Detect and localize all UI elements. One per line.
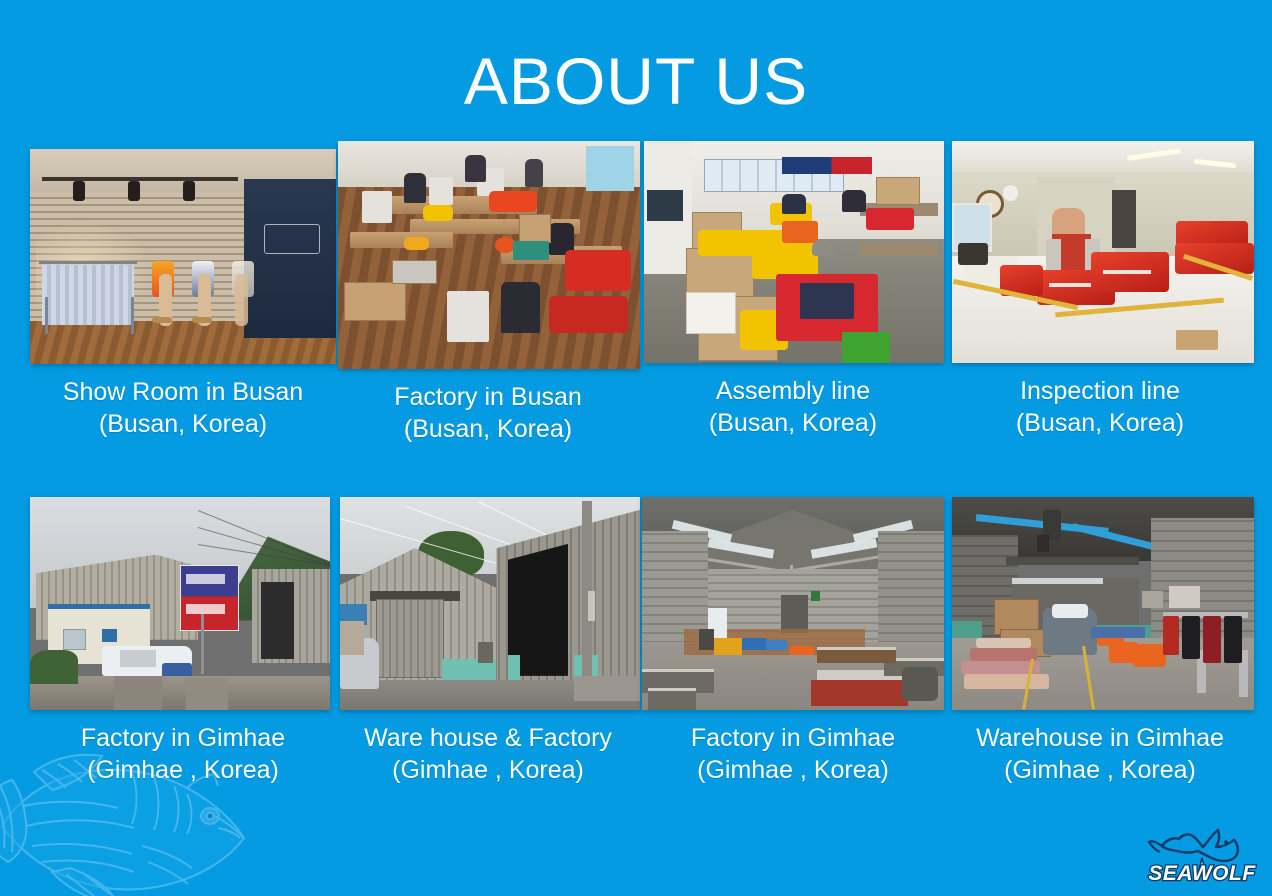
photo-factory-gimhae-exterior: [30, 497, 330, 710]
gallery-row-2: Factory in Gimhae (Gimhae , Korea): [30, 497, 1258, 786]
gallery-row-1: Show Room in Busan (Busan, Korea): [30, 141, 1258, 445]
caption-line-1: Inspection line: [1020, 377, 1180, 405]
caption-line-1: Warehouse in Gimhae: [976, 724, 1224, 752]
gallery-item-factory-gimhae-interior[interactable]: Factory in Gimhae (Gimhae , Korea): [640, 497, 946, 786]
gallery-item-warehouse-gimhae[interactable]: Warehouse in Gimhae (Gimhae , Korea): [946, 497, 1254, 786]
gallery-caption: Factory in Busan (Busan, Korea): [336, 381, 640, 445]
caption-line-1: Ware house & Factory: [364, 724, 612, 752]
gallery-caption: Assembly line (Busan, Korea): [640, 375, 946, 439]
gallery-caption: Warehouse in Gimhae (Gimhae , Korea): [946, 722, 1254, 786]
wolf-tail-icon: [1149, 841, 1162, 852]
gallery-item-factory-busan[interactable]: Factory in Busan (Busan, Korea): [336, 141, 640, 445]
caption-line-1: Assembly line: [716, 377, 870, 405]
caption-line-1: Show Room in Busan: [63, 378, 303, 406]
caption-line-1: Factory in Busan: [394, 383, 582, 411]
caption-line-2: (Busan, Korea): [946, 407, 1254, 439]
gallery-item-warehouse-and-factory[interactable]: Ware house & Factory (Gimhae , Korea): [336, 497, 640, 786]
caption-line-2: (Busan, Korea): [336, 413, 640, 445]
gallery-caption: Factory in Gimhae (Gimhae , Korea): [640, 722, 946, 786]
photo-assembly-line: [644, 141, 944, 363]
slide-canvas: ABOUT US: [0, 0, 1272, 896]
caption-line-2: (Gimhae , Korea): [640, 754, 946, 786]
logo-wordmark: SEAWOLF: [1148, 862, 1256, 885]
gallery-item-assembly-line[interactable]: Assembly line (Busan, Korea): [640, 141, 946, 445]
photo-factory-busan: [338, 141, 640, 369]
gallery-caption: Ware house & Factory (Gimhae , Korea): [336, 722, 640, 786]
photo-show-room-busan: [30, 149, 336, 364]
photo-inspection-line: [952, 141, 1254, 363]
wolf-silhouette-icon: [1162, 830, 1238, 861]
gallery-item-inspection-line[interactable]: Inspection line (Busan, Korea): [946, 141, 1254, 445]
caption-line-1: Factory in Gimhae: [691, 724, 895, 752]
seawolf-logo: SEAWOLF: [1146, 820, 1258, 890]
gallery-caption: Show Room in Busan (Busan, Korea): [30, 376, 336, 440]
caption-line-2: (Gimhae , Korea): [30, 754, 336, 786]
caption-line-2: (Busan, Korea): [640, 407, 946, 439]
gallery-item-factory-gimhae-exterior[interactable]: Factory in Gimhae (Gimhae , Korea): [30, 497, 336, 786]
photo-factory-gimhae-interior: [642, 497, 944, 710]
gallery-item-show-room-busan[interactable]: Show Room in Busan (Busan, Korea): [30, 141, 336, 445]
gallery-caption: Inspection line (Busan, Korea): [946, 375, 1254, 439]
page-title: ABOUT US: [0, 48, 1272, 114]
caption-line-2: (Gimhae , Korea): [336, 754, 640, 786]
photo-warehouse-gimhae: [952, 497, 1254, 710]
caption-line-1: Factory in Gimhae: [81, 724, 285, 752]
caption-line-2: (Busan, Korea): [30, 408, 336, 440]
gallery-caption: Factory in Gimhae (Gimhae , Korea): [30, 722, 336, 786]
photo-warehouse-and-factory: [340, 497, 640, 710]
caption-line-2: (Gimhae , Korea): [946, 754, 1254, 786]
